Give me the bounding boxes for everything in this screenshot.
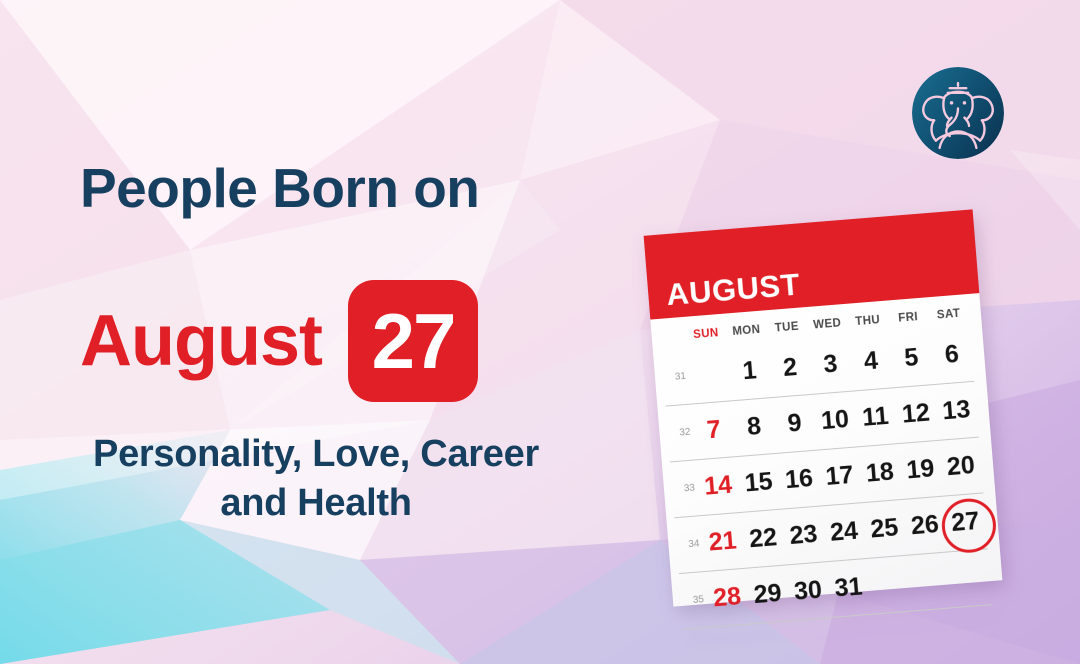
calendar-day[interactable]: 29: [746, 578, 789, 610]
page-subtitle: Personality, Love, Career and Health: [0, 430, 632, 527]
calendar-day[interactable]: 17: [818, 460, 861, 492]
calendar-day[interactable]: 27: [944, 506, 987, 538]
calendar-day[interactable]: 18: [859, 457, 902, 489]
calendar-day[interactable]: 10: [814, 404, 857, 436]
calendar-day[interactable]: 8: [733, 411, 776, 443]
weekday-mon: MON: [726, 323, 767, 338]
calendar-day[interactable]: 25: [863, 513, 906, 545]
calendar-day[interactable]: 22: [742, 523, 785, 555]
calendar-day[interactable]: 16: [778, 464, 821, 496]
calendar-weeks: 3112345632789101112133314151617181920342…: [661, 326, 992, 630]
weekday-thu: THU: [847, 314, 888, 329]
calendar-day[interactable]: 19: [899, 454, 942, 486]
calendar-day[interactable]: 4: [850, 345, 893, 377]
calendar-day[interactable]: 6: [930, 339, 973, 371]
calendar-day[interactable]: 3: [809, 349, 852, 381]
calendar-day[interactable]: 21: [701, 526, 744, 558]
calendar-day-empty: [909, 580, 949, 583]
calendar-day[interactable]: 2: [769, 352, 812, 384]
calendar-day[interactable]: 1: [728, 355, 771, 387]
weekday-tue: TUE: [766, 320, 807, 335]
logo-artwork: [912, 67, 1004, 159]
month-day-row: August 27: [80, 280, 478, 402]
weekday-sun: SUN: [685, 327, 726, 342]
calendar-day[interactable]: 7: [692, 414, 735, 446]
calendar-day-empty: [950, 577, 990, 580]
calendar-day[interactable]: 23: [782, 519, 825, 551]
calendar-day[interactable]: 30: [787, 575, 830, 607]
ganesha-elephant-logo: [912, 67, 1004, 159]
month-label: August: [80, 305, 322, 377]
calendar-day[interactable]: 15: [737, 467, 780, 499]
calendar-card: AUGUST SUN MON TUE WED THU FRI SAT 31123…: [644, 209, 1003, 606]
calendar-day[interactable]: 5: [890, 342, 933, 374]
calendar-week-number: 33: [672, 482, 699, 495]
weekday-sat: SAT: [928, 307, 969, 322]
day-badge: 27: [348, 280, 478, 402]
calendar-day[interactable]: 24: [823, 516, 866, 548]
calendar-week-number: 31: [663, 371, 690, 384]
calendar-month-name: AUGUST: [665, 269, 801, 311]
day-badge-number: 27: [372, 302, 455, 380]
calendar-day[interactable]: 11: [854, 401, 897, 433]
calendar-day[interactable]: 20: [939, 451, 982, 483]
calendar-day[interactable]: 28: [706, 582, 749, 614]
calendar-week-number: 35: [681, 594, 708, 607]
weeknum-spacer: [660, 336, 686, 338]
calendar-day[interactable]: 31: [827, 572, 870, 604]
poster-canvas: People Born on August 27 Personality, Lo…: [0, 0, 1080, 664]
calendar-day[interactable]: 12: [895, 398, 938, 430]
weekday-wed: WED: [807, 317, 848, 332]
calendar-day[interactable]: 14: [697, 470, 740, 502]
calendar-week-number: 32: [667, 426, 694, 439]
calendar-day-empty: [689, 373, 729, 376]
calendar-day[interactable]: 26: [904, 510, 947, 542]
calendar-day[interactable]: 9: [773, 408, 816, 440]
calendar-body: SUN MON TUE WED THU FRI SAT 311234563278…: [650, 293, 1004, 630]
weekday-fri: FRI: [887, 310, 928, 325]
calendar-day[interactable]: 13: [935, 395, 978, 427]
calendar-day-empty: [869, 583, 909, 586]
subtitle-line-2: and Health: [0, 479, 632, 528]
calendar: AUGUST SUN MON TUE WED THU FRI SAT 31123…: [644, 209, 1003, 606]
calendar-week-number: 34: [676, 538, 703, 551]
subtitle-line-1: Personality, Love, Career: [0, 430, 632, 479]
page-title: People Born on: [80, 160, 479, 218]
